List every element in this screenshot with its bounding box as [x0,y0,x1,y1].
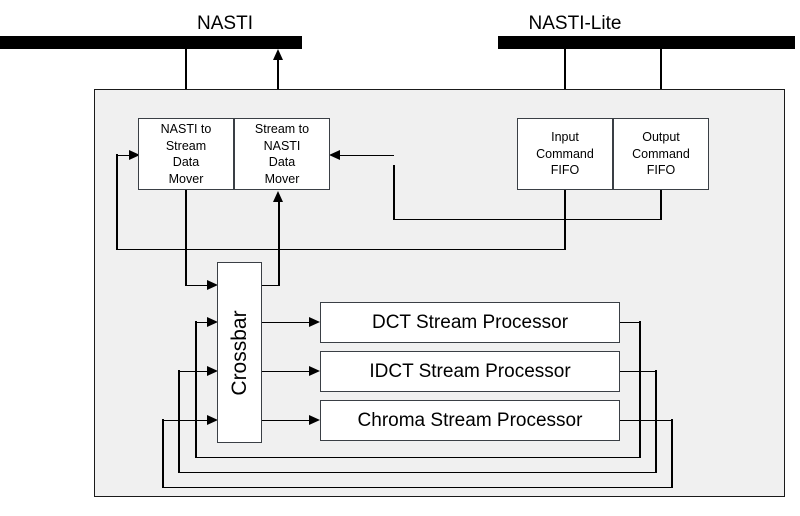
wire-idct-feedback-left [178,472,657,474]
wire-crossbar-to-idct [262,371,310,373]
wire-idct-feedback-up [178,370,180,473]
arrowhead-crossbar-to-chroma [309,415,320,425]
wire-dct-feedback-up [195,321,197,458]
wire-idct-feedback-right [620,371,657,373]
arrowhead-stream-to-nasti-to-nasti-bus [273,49,283,60]
output-command-fifo-label: OutputCommandFIFO [614,129,708,179]
wire-input-fifo-down [564,190,566,250]
stream-to-nasti-data-mover-block[interactable]: Stream toNASTIDataMover [234,118,330,190]
wire-input-fifo-into-nasti-to-stream [116,155,130,157]
wire-input-fifo-up [116,154,118,250]
wire-dct-feedback-down [639,321,641,457]
dct-stream-processor-block[interactable]: DCT Stream Processor [320,302,620,343]
idct-stream-processor-block[interactable]: IDCT Stream Processor [320,351,620,392]
wire-nasti-to-stream-to-crossbar [185,285,208,287]
output-command-fifo-block[interactable]: OutputCommandFIFO [613,118,709,190]
crossbar-label: Crossbar [228,310,252,395]
wire-input-fifo-left [116,249,565,251]
input-command-fifo-block[interactable]: InputCommandFIFO [517,118,613,190]
block-diagram: NASTI NASTI-Lite [0,0,800,516]
crossbar-block[interactable]: Crossbar [217,262,262,443]
nasti-bus-label: NASTI [150,14,300,33]
wire-crossbar-to-dct [262,322,310,324]
wire-crossbar-to-chroma [262,420,310,422]
stream-to-nasti-data-mover-label: Stream toNASTIDataMover [235,121,329,187]
wire-crossbar-to-stream-to-nasti-up [278,202,280,286]
wire-dct-feedback-left [195,457,641,459]
wire-nasti-to-stream-down [185,190,187,285]
nasti-to-stream-data-mover-label: NASTI toStreamDataMover [139,121,233,187]
wire-chroma-feedback-down [671,419,673,487]
wire-dct-feedback-right [620,322,641,324]
wire-chroma-feedback-into-crossbar [162,420,209,422]
dct-stream-processor-label: DCT Stream Processor [321,313,619,333]
chroma-stream-processor-block[interactable]: Chroma Stream Processor [320,400,620,441]
nasti-bus-bar [0,36,302,49]
arrowhead-crossbar-to-idct [309,366,320,376]
input-command-fifo-label: InputCommandFIFO [518,129,612,179]
wire-output-fifo-down [660,190,662,220]
chroma-stream-processor-label: Chroma Stream Processor [321,411,619,431]
arrowhead-crossbar-to-dct [309,317,320,327]
wire-output-fifo-left [393,219,661,221]
arrowhead-output-fifo-to-stream-to-nasti [329,150,340,160]
wire-chroma-feedback-right [620,420,673,422]
wire-idct-feedback-into-crossbar [178,371,209,373]
wire-output-fifo-into-stream-to-nasti [338,155,394,157]
wire-output-fifo-up [393,165,395,220]
wire-chroma-feedback-up [162,419,164,488]
arrowhead-crossbar-to-stream-to-nasti [273,191,283,202]
nasti-to-stream-data-mover-block[interactable]: NASTI toStreamDataMover [138,118,234,190]
wire-chroma-feedback-left [162,487,673,489]
idct-stream-processor-label: IDCT Stream Processor [321,362,619,382]
nasti-lite-bus-label: NASTI-Lite [495,14,655,33]
nasti-lite-bus-bar [498,36,795,49]
